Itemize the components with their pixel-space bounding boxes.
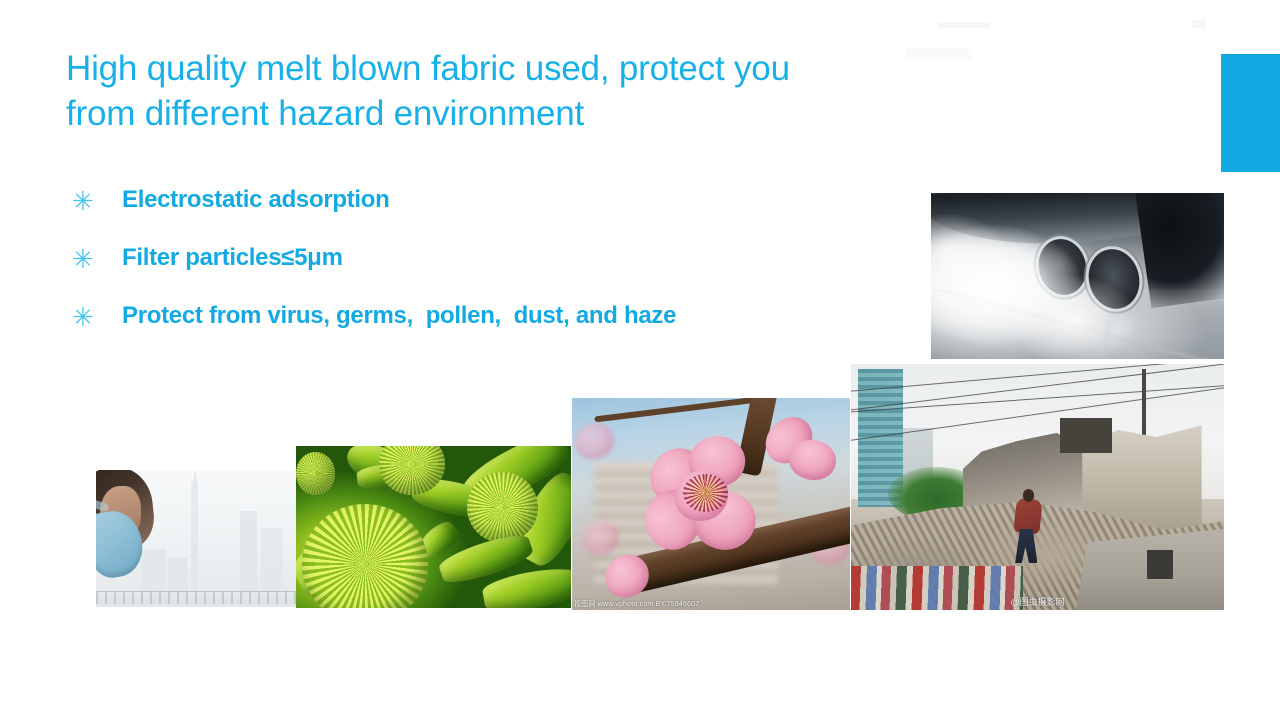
dark-window-opening: [1060, 418, 1112, 452]
list-item: ✳ Electrostatic adsorption: [66, 184, 886, 242]
bullet-list: ✳ Electrostatic adsorption ✳ Filter part…: [66, 184, 886, 358]
person-head: [1023, 489, 1034, 501]
slide-title: High quality melt blown fabric used, pro…: [66, 46, 986, 136]
bullet-text: Protect from virus, germs, pollen, dust,…: [122, 300, 676, 332]
thin-twig: [594, 398, 766, 423]
rubble-watermark: @图虫摄影网: [1010, 597, 1064, 608]
hanging-laundry: [851, 566, 1023, 610]
accent-rectangle: [1221, 54, 1280, 172]
photo-pink-blossom: 视图网 www.vphoto.com BY.75946607: [572, 398, 850, 610]
flower-stamen: [683, 474, 727, 512]
virus-spiky-4: [296, 452, 335, 494]
photo-germs-bacteria: [296, 446, 571, 608]
bullet-text: Filter particles≤5μm: [122, 242, 343, 274]
slide-canvas: High quality melt blown fabric used, pro…: [0, 0, 1280, 720]
virus-spiky-1: [302, 504, 429, 608]
list-item: ✳ Protect from virus, germs, pollen, dus…: [66, 300, 886, 358]
faint-artifact-right: [1192, 20, 1206, 28]
faint-artifact-left: [938, 22, 990, 28]
list-item: ✳ Filter particles≤5μm: [66, 242, 886, 300]
virus-spiky-2: [467, 472, 539, 543]
blossom-watermark: 视图网 www.vphoto.com BY.75946607: [574, 600, 699, 609]
asterisk-icon: ✳: [66, 242, 122, 276]
background-blossom-1: [575, 423, 614, 459]
asterisk-icon: ✳: [66, 184, 122, 218]
exhaust-smoke-cloud: [931, 206, 1186, 359]
photo-demolition-rubble: @图虫摄影网: [851, 364, 1224, 610]
photo-car-exhaust: [931, 193, 1224, 359]
wall-window: [1146, 549, 1174, 581]
asterisk-icon: ✳: [66, 300, 122, 334]
photo-smog-city-mask: [96, 470, 302, 607]
bullet-text: Electrostatic adsorption: [122, 184, 390, 216]
